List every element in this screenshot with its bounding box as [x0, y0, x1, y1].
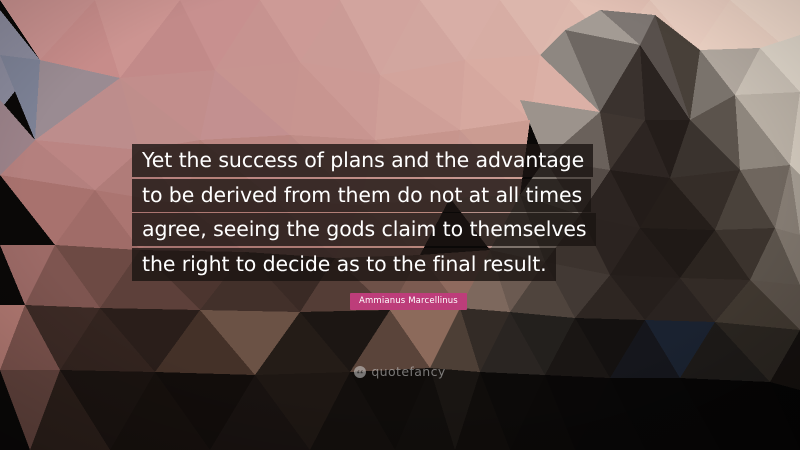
quote-line-4: the right to decide as to the final resu… — [132, 248, 556, 281]
quote-wallpaper: Yet the success of plans and the advanta… — [0, 0, 800, 450]
quote-text-block: Yet the success of plans and the advanta… — [0, 144, 800, 282]
quote-line-3: agree, seeing the gods claim to themselv… — [132, 213, 596, 246]
author-badge[interactable]: Ammianus Marcellinus — [350, 293, 467, 310]
quote-line-1: Yet the success of plans and the advanta… — [132, 144, 593, 177]
quote-line-2: to be derived from them do not at all ti… — [132, 179, 591, 212]
